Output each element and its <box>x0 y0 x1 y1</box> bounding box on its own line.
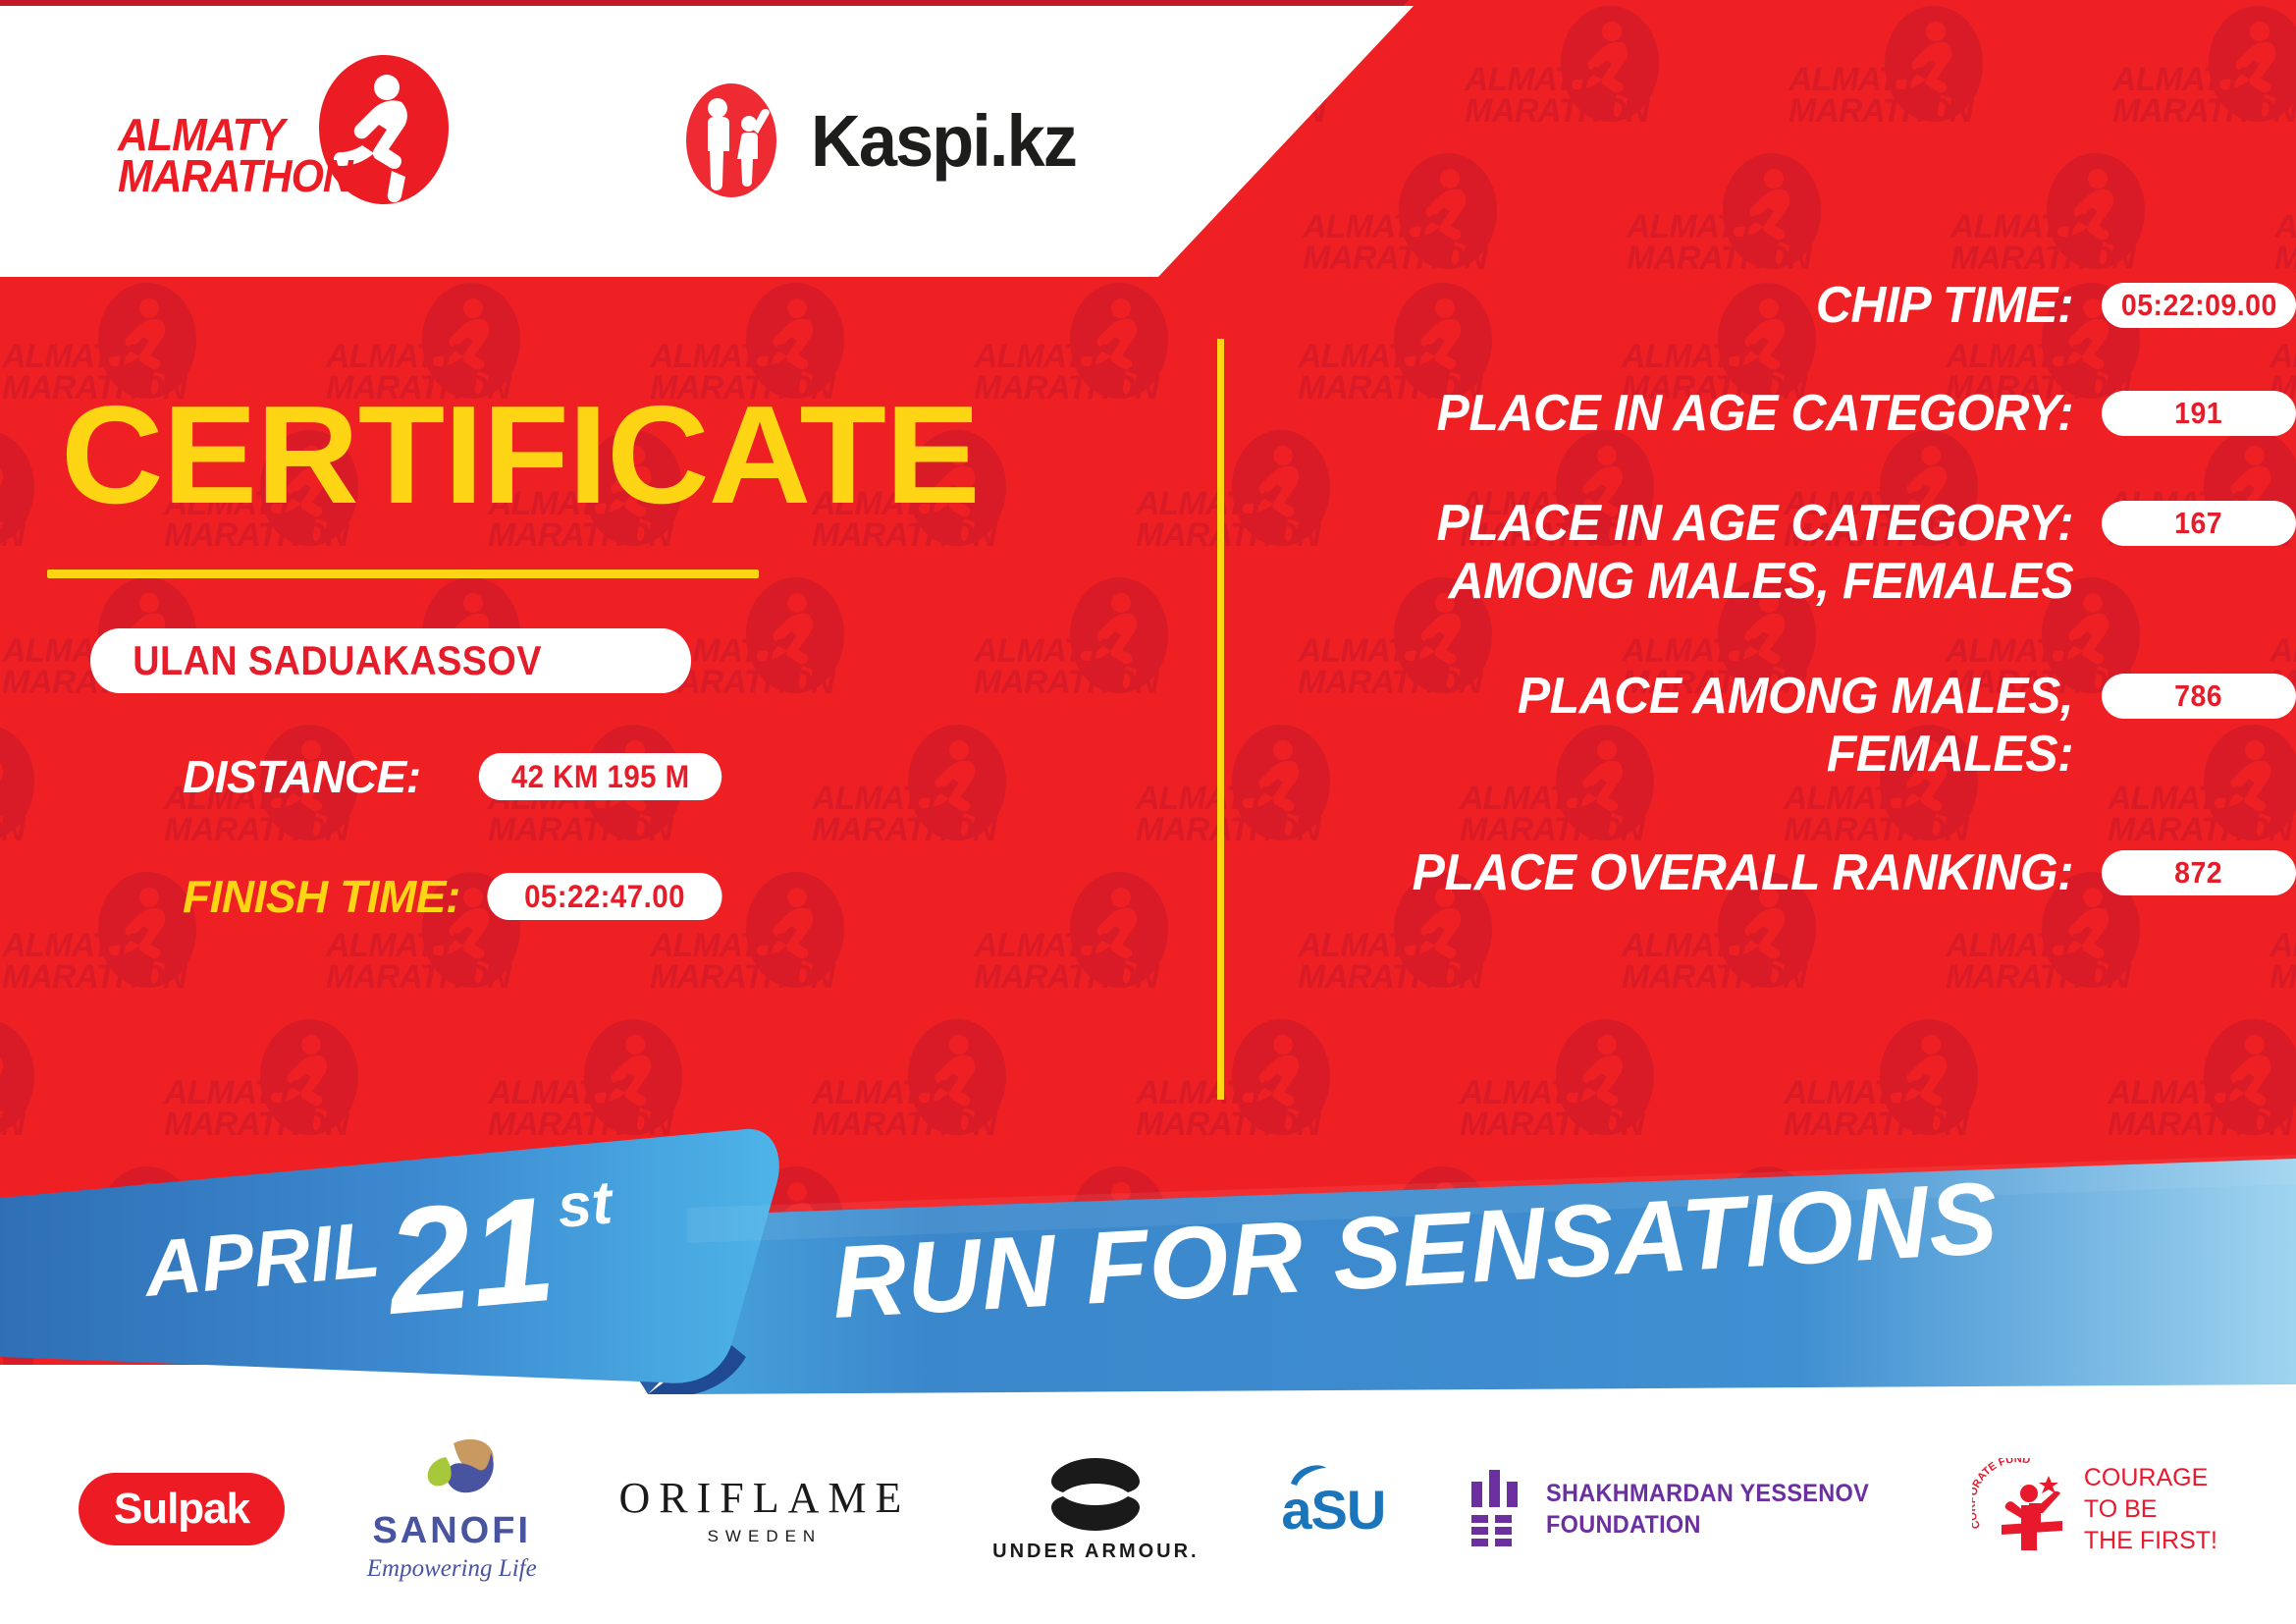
almaty-marathon-logo: ALMATY MARATHON <box>118 55 442 232</box>
place-age-category-among-row: PLACE IN AGE CATEGORY: AMONG MALES, FEMA… <box>1237 495 2296 612</box>
sponsor-courage-fund: CORPORATE FUND COURAGE TO BE THE FIRST! <box>1972 1458 2217 1560</box>
courage-line3: THE FIRST! <box>2084 1525 2217 1556</box>
finish-time-value: 05:22:47.00 <box>487 873 721 920</box>
courage-wordmark: COURAGE TO BE THE FIRST! <box>2084 1462 2217 1556</box>
place-among-males-females-value: 786 <box>2102 674 2296 719</box>
courage-line2: TO BE <box>2084 1493 2217 1525</box>
ribbon-day-suffix: st <box>555 1168 616 1241</box>
chip-time-value: 05:22:09.00 <box>2102 283 2296 328</box>
oriflame-wordmark: ORIFLAME <box>618 1473 910 1523</box>
place-age-category-label: PLACE IN AGE CATEGORY: <box>1271 385 2102 443</box>
athlete-name-field: ULAN SADUAKASSOV <box>90 628 691 693</box>
place-among-males-females-row: PLACE AMONG MALES, FEMALES: 786 <box>1237 668 2296 785</box>
place-age-category-row: PLACE IN AGE CATEGORY: 191 <box>1237 385 2296 443</box>
place-among-males-females-label: PLACE AMONG MALES, FEMALES: <box>1271 668 2102 785</box>
sanofi-mark-icon <box>393 1435 510 1504</box>
yessenov-bars-icon <box>1468 1468 1524 1550</box>
oriflame-tagline: SWEDEN <box>618 1527 910 1546</box>
sponsor-sanofi: SANOFI Empowering Life <box>367 1435 537 1583</box>
sponsor-yessenov-foundation: SHAKHMARDAN YESSENOV FOUNDATION <box>1468 1468 1890 1550</box>
kaspi-people-icon <box>677 82 785 198</box>
under-armour-icon <box>1022 1456 1169 1533</box>
kaspi-logo: Kaspi.kz <box>677 82 1090 198</box>
under-armour-wordmark: UNDER ARMOUR. <box>992 1541 1199 1563</box>
courage-fund-icon: CORPORATE FUND <box>1972 1458 2074 1560</box>
sanofi-wordmark: SANOFI <box>367 1510 537 1552</box>
ribbon-graphic: APRIL 21 st RUN FOR SENSATIONS <box>0 1100 2296 1414</box>
courage-line1: COURAGE <box>2084 1462 2217 1493</box>
almaty-marathon-wordmark: ALMATY MARATHON <box>118 114 352 197</box>
place-age-category-value: 191 <box>2102 391 2296 436</box>
kaspi-wordmark: Kaspi.kz <box>811 99 1076 183</box>
place-overall-ranking-value: 872 <box>2102 850 2296 895</box>
sponsor-bar: Sulpak SANOFI Empowering Life ORIFLAME S… <box>0 1394 2296 1624</box>
sponsor-asu: aSU <box>1281 1478 1385 1542</box>
yessenov-line1: SHAKHMARDAN YESSENOV <box>1546 1478 1869 1510</box>
distance-value: 42 KM 195 M <box>478 753 721 800</box>
place-overall-ranking-label: PLACE OVERALL RANKING: <box>1271 844 2102 902</box>
sulpak-logo: Sulpak <box>79 1473 285 1545</box>
finish-time-row: FINISH TIME: 05:22:47.00 <box>183 870 732 923</box>
place-age-category-among-value: 167 <box>2102 501 2296 546</box>
title-underline-rule <box>47 569 759 578</box>
page-title: CERTIFICATE <box>61 375 980 536</box>
ribbon-day: 21 <box>378 1165 561 1346</box>
column-divider <box>1217 339 1224 1100</box>
asu-swoosh-icon <box>1289 1462 1328 1488</box>
yessenov-line2: FOUNDATION <box>1546 1509 1869 1542</box>
chip-time-label: CHIP TIME: <box>1271 277 2102 335</box>
sanofi-tagline: Empowering Life <box>367 1555 537 1583</box>
header-logo-area: ALMATY MARATHON Kaspi.kz <box>0 6 1168 277</box>
yessenov-wordmark: SHAKHMARDAN YESSENOV FOUNDATION <box>1546 1478 1869 1542</box>
place-overall-ranking-row: PLACE OVERALL RANKING: 872 <box>1237 844 2296 902</box>
distance-row: DISTANCE: 42 KM 195 M <box>183 750 732 803</box>
finish-time-label: FINISH TIME: <box>183 870 430 923</box>
sponsor-sulpak: Sulpak <box>79 1473 285 1545</box>
event-date-ribbon: APRIL 21 st RUN FOR SENSATIONS <box>0 1100 2296 1414</box>
sponsor-oriflame: ORIFLAME SWEDEN <box>618 1473 910 1546</box>
marathon-name-line2: MARATHON <box>118 155 352 196</box>
chip-time-row: CHIP TIME: 05:22:09.00 <box>1237 277 2296 335</box>
place-age-category-among-label: PLACE IN AGE CATEGORY: AMONG MALES, FEMA… <box>1271 495 2102 612</box>
distance-label: DISTANCE: <box>183 750 421 803</box>
marathon-name-line1: ALMATY <box>118 114 352 155</box>
sponsor-under-armour: UNDER ARMOUR. <box>992 1456 1199 1563</box>
certificate-page: ALMATY MARATHON Kaspi.kz CERTIFICATE ULA… <box>0 0 2296 1624</box>
